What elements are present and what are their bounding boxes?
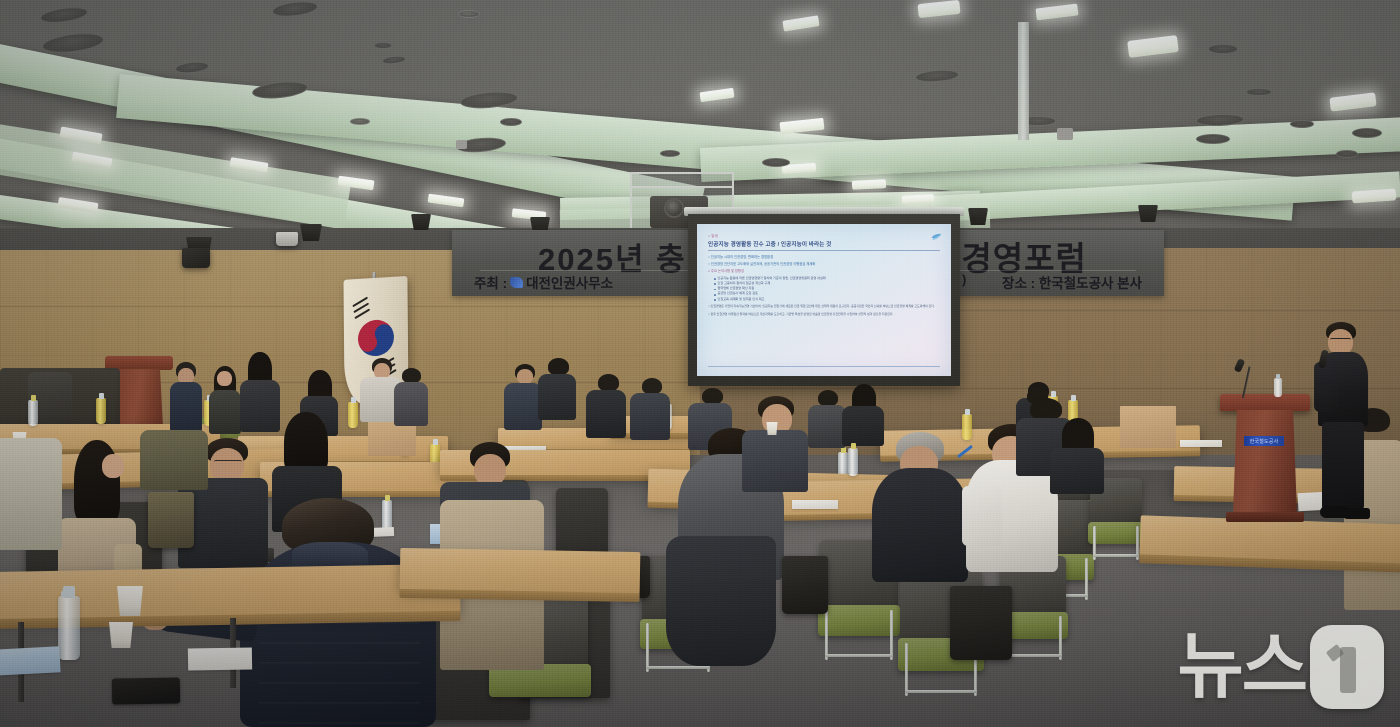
slide-footer-rule: [708, 366, 940, 367]
lectern-top: [1220, 394, 1310, 411]
banner-host-paren: ): [962, 272, 966, 287]
ceiling-vent: [1290, 120, 1314, 128]
audience-member: [1050, 418, 1104, 494]
audience-member: [58, 440, 136, 590]
water-bottle-foreground: [58, 596, 80, 660]
eyeglasses-icon: [214, 460, 242, 467]
ceiling-vent: [1196, 134, 1230, 144]
lectern-base: [1226, 512, 1304, 522]
arm: [962, 486, 1002, 546]
lectern-body: [1233, 410, 1297, 514]
shoulder: [872, 468, 968, 582]
presentation-slide: □ 발제 인공지능 경영활동 진수 고충 / 인공지능이 바라는 것 ○ 인공지…: [697, 224, 951, 376]
ceiling-vent: [1208, 44, 1238, 54]
projector-cage-top: [630, 172, 734, 188]
eyeglasses-icon: [1330, 338, 1351, 344]
ceiling-vent: [1246, 88, 1272, 96]
torso: [1050, 448, 1104, 494]
wall-speaker: [182, 248, 210, 268]
ceiling-vent: [374, 42, 392, 49]
slide-paragraph: ○ 인공지능 시대의 인권경영, 변화하는 경영환경: [708, 255, 940, 260]
banner-host-group: 주최 : 대전인권사무소: [474, 272, 613, 292]
slide-subhead: □ 주요 논의사항 및 방향성: [708, 269, 940, 274]
torso: [742, 430, 808, 492]
audience-member: [630, 378, 670, 440]
ceiling-sensor: [1057, 128, 1073, 140]
chair: [556, 488, 608, 556]
hair: [702, 388, 723, 404]
ceiling-vent: [1352, 128, 1382, 138]
ceiling-strip-light: [852, 179, 886, 190]
projector-lens: [664, 198, 684, 218]
water-bottle: [1274, 378, 1282, 397]
slide-paragraph: ○ 인권경영 진단지표 고도화와 실천과제, 공공기관의 인권경영 이행점검 체…: [708, 262, 940, 267]
backpack: [148, 492, 194, 548]
paper-cup-foreground: [108, 622, 134, 648]
slide-closing-paragraph: ○ 향후 인권경영 이행점검 결과를 바탕으로 개선과제를 도출하고, 기관별 …: [708, 312, 940, 317]
audience-member: [808, 390, 846, 448]
document-paper: [792, 500, 838, 509]
slide-eyebrow: □ 발제: [708, 233, 940, 238]
ceiling-downlight: [458, 10, 480, 18]
torso: [504, 383, 542, 430]
ceiling-speaker: [300, 224, 322, 241]
slide-bullet-list: 인공지능 활용에 따른 인권영향평가 절차와 기준의 정립, 인권경영위원회 운…: [714, 276, 940, 302]
hair: [1030, 398, 1062, 420]
ceiling-speaker: [1138, 205, 1158, 222]
audience-member: [742, 396, 808, 492]
ceiling-vent: [500, 118, 522, 126]
conference-hall-photo: 2025년 충 권경영포럼 주최 : 대전인권사무소 장소 : 한국철도공사 본…: [0, 0, 1400, 727]
slide-bullet: 인권교육 내재화 및 임직원 인식 제고: [714, 297, 940, 302]
ceiling-sensor: [456, 140, 467, 149]
arm: [1314, 362, 1338, 412]
ceiling-vent: [660, 150, 680, 157]
slide-rule: [708, 250, 940, 251]
torso: [808, 405, 846, 448]
projection-screen: □ 발제 인공지능 경영활동 진수 고충 / 인공지능이 바라는 것 ○ 인공지…: [688, 214, 960, 386]
chair-leg: [905, 643, 908, 696]
chair-crossbar: [1004, 654, 1062, 657]
presenter: [1318, 322, 1370, 522]
host-logo-icon: [510, 277, 523, 288]
handbag: [782, 556, 828, 614]
slide-closing-paragraph: ○ 인권경영은 기업의 지속가능경영 기반이며, 인공지능 전환기에 새로운 인…: [708, 304, 940, 309]
chair-crossbar: [646, 666, 709, 669]
paper-shopping-bag: [1120, 406, 1176, 448]
ceiling-vent: [762, 158, 790, 167]
slide-title: 인공지능 경영활동 진수 고충 / 인공지능이 바라는 것: [708, 240, 940, 248]
projector-mount-pole: [1018, 22, 1029, 140]
bottle-cap: [63, 586, 75, 598]
torso: [586, 390, 626, 438]
lectern-logo-plate: 한국철도공사: [1244, 436, 1284, 446]
banner-host-label: 주최 :: [474, 272, 507, 292]
ceiling-strip-light: [902, 194, 934, 205]
head: [102, 454, 124, 478]
handout-paper: [0, 646, 61, 676]
lectern: 한국철도공사: [1224, 394, 1306, 524]
audience-member: [538, 358, 576, 420]
audience-member: [0, 420, 62, 550]
head: [517, 369, 533, 384]
torso: [630, 393, 670, 440]
hair: [598, 374, 619, 391]
ceiling-vent: [1336, 150, 1358, 158]
chair-leg: [825, 610, 828, 660]
water-bottle: [848, 448, 858, 476]
hair: [642, 378, 662, 394]
hair: [402, 368, 421, 383]
juice-bottle: [96, 398, 106, 424]
audience-member: [394, 368, 428, 426]
slide-bird-logo-icon: [931, 233, 942, 241]
torso: [209, 390, 241, 434]
draped-coat: [666, 536, 776, 666]
document-paper: [1180, 440, 1222, 447]
audience-member: [586, 374, 626, 438]
hair: [818, 390, 838, 406]
chair-crossbar: [1093, 554, 1139, 557]
audience-member: [208, 366, 242, 434]
banner-venue: 장소 : 한국철도공사 본사: [1002, 272, 1142, 292]
paper-cup: [766, 422, 778, 435]
hair: [284, 412, 328, 474]
chair-leg: [890, 610, 893, 660]
torso: [140, 430, 208, 490]
torso: [394, 382, 428, 426]
chair-leg: [646, 623, 649, 672]
audience-member: [504, 364, 542, 430]
handout-paper: [188, 647, 252, 670]
ceiling-downlight: [350, 118, 370, 125]
torso: [538, 374, 576, 420]
table-foreground: [400, 548, 641, 594]
head: [217, 371, 232, 386]
lectern-plate-text: 한국철도공사: [1250, 438, 1279, 445]
audience-member: [872, 432, 968, 582]
audience-member: [140, 412, 208, 490]
handbag: [950, 586, 1012, 660]
chair-crossbar: [825, 654, 894, 657]
paper-cup-foreground: [116, 586, 144, 616]
ceiling-speaker: [968, 208, 988, 225]
wall-speaker: [276, 232, 298, 246]
shoe: [1342, 508, 1370, 519]
chair-seat: [818, 605, 901, 636]
ceiling-speaker: [411, 214, 431, 230]
smartphone: [112, 677, 180, 704]
torso: [0, 438, 62, 550]
hair: [548, 358, 569, 375]
hair: [74, 440, 120, 524]
chair-crossbar: [905, 690, 977, 693]
flag-taeguk-circle: [352, 314, 401, 364]
legs: [1322, 422, 1364, 510]
banner-host-name: 대전인권사무소: [526, 272, 613, 292]
juice-bottle: [348, 402, 358, 428]
